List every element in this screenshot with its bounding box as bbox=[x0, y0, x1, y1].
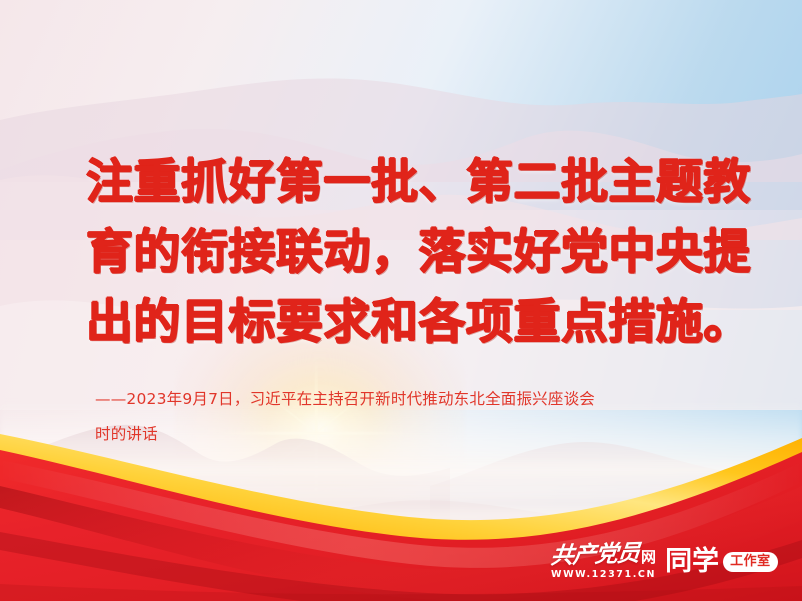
logo-block[interactable]: 共产党员 网 WWW.12371.CN 同学 工作室 bbox=[551, 543, 778, 580]
studio-badge: 工作室 bbox=[723, 552, 778, 572]
site-logo[interactable]: 共产党员 网 WWW.12371.CN bbox=[551, 543, 656, 580]
site-name-suffix: 网 bbox=[641, 550, 656, 565]
attribution-line-1: ——2023年9月7日，习近平在主持召开新时代推动东北全面振兴座谈会 bbox=[95, 382, 715, 417]
site-logo-name: 共产党员 网 bbox=[551, 543, 656, 566]
headline-line-2: 育的衔接联动，落实好党中央提 bbox=[86, 218, 736, 288]
site-url: WWW.12371.CN bbox=[551, 569, 656, 580]
headline-line-1: 注重抓好第一批、第二批主题教 bbox=[86, 148, 736, 218]
studio-logo[interactable]: 同学 工作室 bbox=[665, 548, 778, 575]
site-name-script: 共产党员 bbox=[550, 541, 641, 567]
studio-name: 同学 bbox=[665, 548, 719, 575]
poster-canvas: 注重抓好第一批、第二批主题教 育的衔接联动，落实好党中央提 出的目标要求和各项重… bbox=[0, 0, 802, 601]
headline-line-3: 出的目标要求和各项重点措施。 bbox=[86, 288, 736, 358]
headline: 注重抓好第一批、第二批主题教 育的衔接联动，落实好党中央提 出的目标要求和各项重… bbox=[86, 148, 736, 358]
